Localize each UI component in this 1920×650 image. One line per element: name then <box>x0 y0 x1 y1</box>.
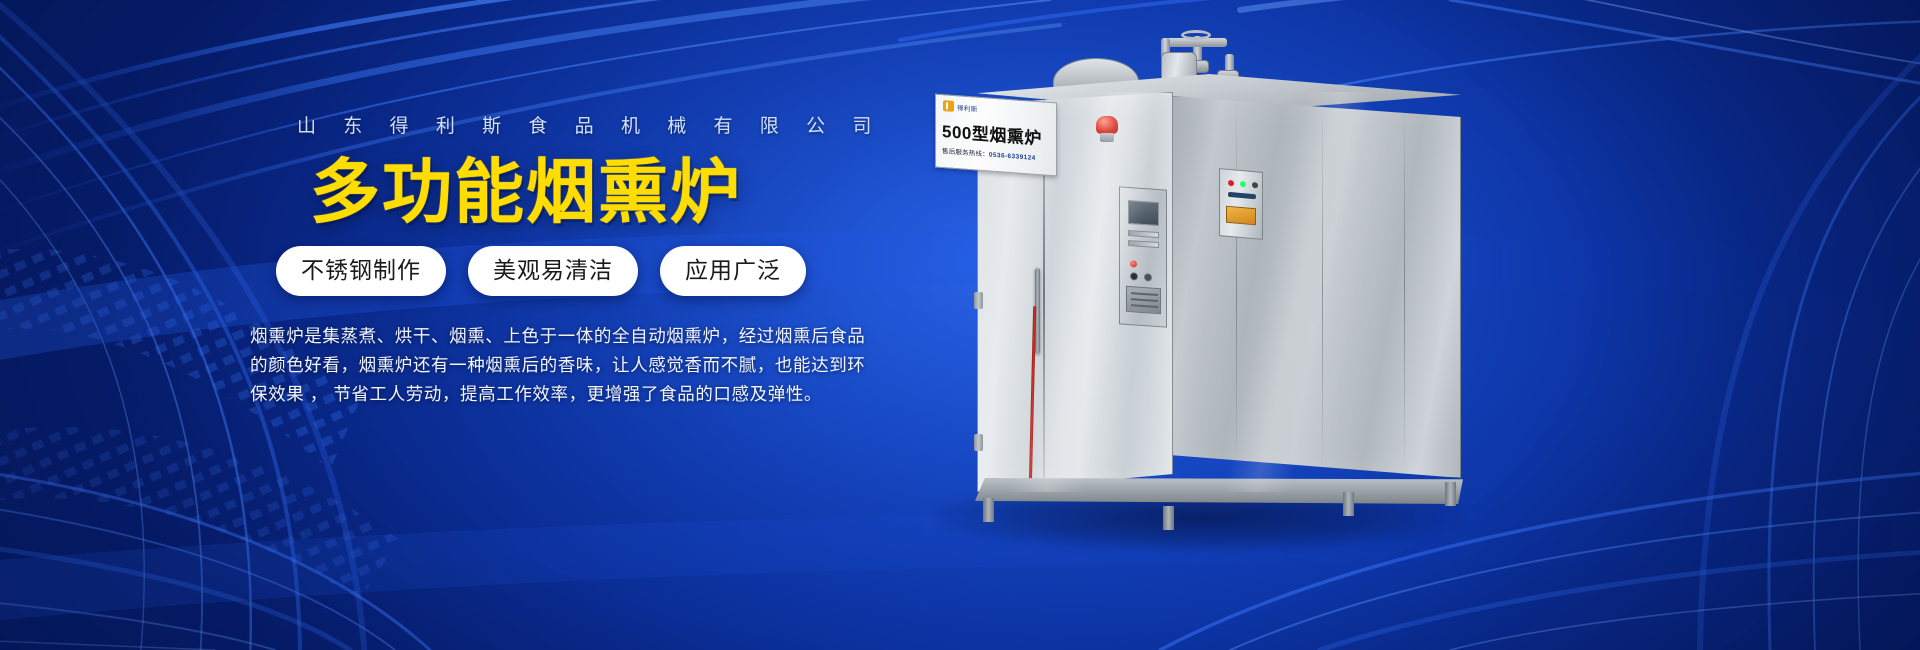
product-image-smokehouse-oven: 得利斯 500型烟熏炉 售后服务热线：0536-6339124 <box>925 30 1485 550</box>
control-display-screen <box>1128 200 1159 226</box>
machine-signage-plate: 得利斯 500型烟熏炉 售后服务热线：0536-6339124 <box>935 94 1057 177</box>
control-panel-box <box>1119 186 1167 327</box>
description-line-2: 的颜色好看，烟熏炉还有一种烟熏后的香味，让人感觉香而不腻，也能达到环 <box>250 351 816 380</box>
control-vent-grille <box>1126 286 1161 314</box>
door-hinge-bottom <box>974 434 983 451</box>
feature-pill-2[interactable]: 美观易清洁 <box>468 246 638 296</box>
cabinet-label-strip <box>1228 192 1256 199</box>
feature-pill-group: 不锈钢制作 美观易清洁 应用广泛 <box>246 246 826 296</box>
cabinet-base-skirt <box>975 478 1463 504</box>
banner-headline: 多功能烟熏炉 <box>246 154 826 230</box>
brand-mark-icon <box>943 100 954 112</box>
leg-front-right <box>1163 506 1174 530</box>
machine-brand-logo: 得利斯 <box>943 100 978 114</box>
cabinet-side-panel <box>1171 96 1461 478</box>
service-phone: 0536-6339124 <box>989 151 1036 161</box>
beacon-base <box>1100 133 1114 142</box>
description-line-3: 保效果 ， 节省工人劳动，提高工作效率，更增强了食品的口感及弹性。 <box>250 380 816 409</box>
machine-model-title: 500型烟熏炉 <box>942 117 1042 149</box>
cabinet-led-off <box>1252 182 1258 189</box>
leg-rear-right <box>1343 492 1354 516</box>
leg-front-left <box>983 498 994 522</box>
cabinet-led-green <box>1240 181 1246 188</box>
banner-description: 烟熏炉是集蒸煮、烘干、烟熏、上色于一体的全自动烟熏炉，经过烟熏后食品 的颜色好看… <box>246 322 816 409</box>
electrical-cabinet <box>1219 168 1263 240</box>
service-label: 售后服务热线： <box>942 148 989 158</box>
control-strip-a <box>1128 230 1159 238</box>
description-line-1: 烟熏炉是集蒸煮、烘干、烟熏、上色于一体的全自动烟熏炉，经过烟熏后食品 <box>250 322 816 351</box>
beacon-lens <box>1096 116 1118 134</box>
warning-beacon-light <box>1096 116 1118 142</box>
door-hinge-mid <box>974 292 983 309</box>
cabinet-led-red <box>1228 180 1234 187</box>
control-knob-b <box>1144 273 1152 282</box>
feature-pill-3[interactable]: 应用广泛 <box>660 246 806 296</box>
promo-banner: 得利斯 500型烟熏炉 售后服务热线：0536-6339124 <box>0 0 1920 650</box>
machine-brand-text: 得利斯 <box>957 102 978 114</box>
banner-text-column: 山 东 得 利 斯 食 品 机 械 有 限 公 司 多功能烟熏炉 不锈钢制作 美… <box>246 112 826 409</box>
leg-rear-far <box>1445 482 1456 506</box>
control-indicator-lamp <box>1130 260 1137 267</box>
company-name: 山 东 得 利 斯 食 品 机 械 有 限 公 司 <box>246 112 826 142</box>
feature-pill-1[interactable]: 不锈钢制作 <box>276 246 446 296</box>
valve-handwheel <box>1181 30 1211 40</box>
control-knob-a <box>1130 272 1138 281</box>
control-strip-b <box>1128 240 1159 248</box>
cabinet-warning-plate <box>1226 206 1256 226</box>
